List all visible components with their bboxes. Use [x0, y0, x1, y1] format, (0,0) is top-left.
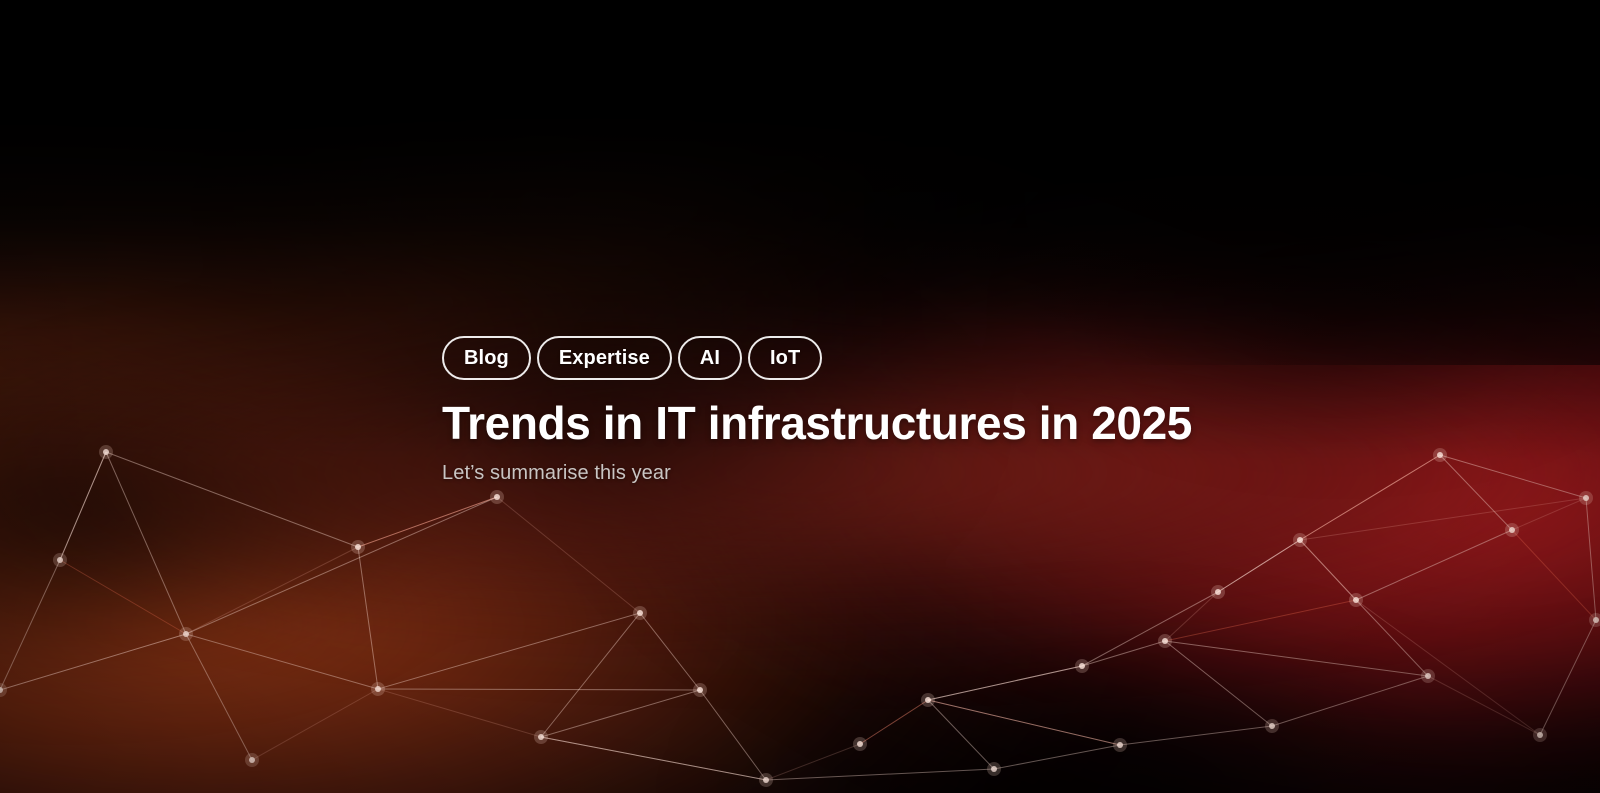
tag-expertise[interactable]: Expertise	[537, 336, 672, 380]
page-subtitle: Let’s summarise this year	[442, 460, 1442, 486]
background-top-right-fade	[864, 0, 1600, 365]
tag-list: BlogExpertiseAIIoT	[442, 336, 1442, 380]
hero-content: BlogExpertiseAIIoT Trends in IT infrastr…	[442, 336, 1442, 486]
page-title: Trends in IT infrastructures in 2025	[442, 400, 1442, 448]
tag-ai[interactable]: AI	[678, 336, 742, 380]
hero-banner: BlogExpertiseAIIoT Trends in IT infrastr…	[0, 0, 1600, 793]
tag-blog[interactable]: Blog	[442, 336, 531, 380]
tag-iot[interactable]: IoT	[748, 336, 822, 380]
